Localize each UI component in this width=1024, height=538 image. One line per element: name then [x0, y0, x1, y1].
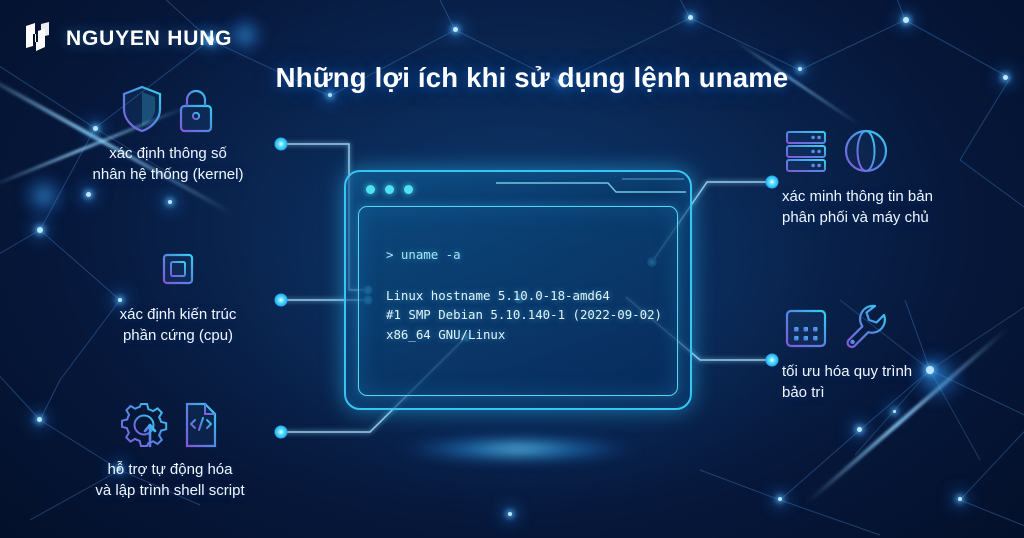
feature-cpu-label: xác định kiến trúc phần cứng (cpu)	[92, 304, 264, 346]
feature-maintenance-label: tối ưu hóa quy trình bảo trì	[782, 361, 982, 403]
calendar-icon	[782, 302, 830, 352]
cpu-chip-icon	[154, 245, 202, 295]
star-node	[168, 200, 172, 204]
window-dot[interactable]	[404, 185, 413, 194]
feature-shell: hỗ trợ tự động hóa và lập trình shell sc…	[72, 398, 268, 501]
feature-shell-label: hỗ trợ tự động hóa và lập trình shell sc…	[72, 459, 268, 501]
gear-arrow-icon	[119, 400, 169, 450]
feature-kernel-icons	[68, 82, 268, 134]
globe-icon	[842, 127, 890, 177]
wire-dot	[766, 176, 779, 189]
star-node	[778, 497, 782, 501]
brand-logo: NGUYEN HUNG	[24, 22, 232, 56]
feature-kernel-label: xác định thông số nhân hệ thống (kernel)	[68, 143, 268, 185]
terminal-screen: > uname -aLinux hostname 5.10.0-18-amd64…	[358, 206, 678, 396]
shield-icon	[120, 84, 164, 134]
star-node	[86, 192, 91, 197]
titlebar-decoration	[496, 177, 686, 201]
terminal-frame: > uname -aLinux hostname 5.10.0-18-amd64…	[344, 170, 692, 410]
terminal-output-line-3: x86_64 GNU/Linux	[386, 327, 505, 342]
node-glow	[18, 170, 70, 222]
feature-shell-icons	[72, 398, 268, 450]
wire-dot	[275, 138, 288, 151]
wire-dot	[275, 294, 288, 307]
star-node	[37, 227, 43, 233]
infographic-canvas: NGUYEN HUNG Những lợi ích khi sử dụng lệ…	[0, 0, 1024, 538]
lock-icon	[176, 86, 216, 134]
terminal-command: > uname -a	[386, 247, 461, 262]
code-document-icon	[181, 400, 221, 450]
star-node	[688, 15, 693, 20]
terminal-output: > uname -aLinux hostname 5.10.0-18-amd64…	[386, 245, 663, 344]
feature-distro-label: xác minh thông tin bản phân phối và máy …	[782, 186, 994, 228]
terminal-output-line-2: #1 SMP Debian 5.10.140-1 (2022-09-02)	[386, 307, 662, 322]
wrench-icon	[842, 302, 888, 352]
star-node	[508, 512, 512, 516]
terminal-output-line-1: Linux hostname 5.10.0-18-amd64	[386, 288, 610, 303]
feature-distro: xác minh thông tin bản phân phối và máy …	[782, 125, 994, 228]
star-node	[903, 17, 909, 23]
star-node	[857, 427, 862, 432]
server-rack-icon	[782, 127, 830, 177]
star-node	[893, 410, 896, 413]
feature-cpu-icons	[92, 243, 264, 295]
feature-maintenance: tối ưu hóa quy trình bảo trì	[782, 300, 982, 403]
brand-name: NGUYEN HUNG	[66, 27, 232, 51]
wire-dot	[275, 426, 288, 439]
star-node	[37, 417, 42, 422]
star-node	[958, 497, 962, 501]
feature-maintenance-icons	[782, 300, 982, 352]
terminal-window: > uname -aLinux hostname 5.10.0-18-amd64…	[344, 170, 692, 410]
wire-dot	[766, 354, 779, 367]
window-dot[interactable]	[385, 185, 394, 194]
feature-cpu: xác định kiến trúc phần cứng (cpu)	[92, 243, 264, 346]
window-dot[interactable]	[366, 185, 375, 194]
star-node	[453, 27, 458, 32]
terminal-glow	[398, 436, 638, 462]
nguyen-hung-monogram-icon	[24, 22, 54, 56]
window-control-dots[interactable]	[366, 185, 413, 194]
feature-distro-icons	[782, 125, 994, 177]
feature-kernel: xác định thông số nhân hệ thống (kernel)	[68, 82, 268, 185]
